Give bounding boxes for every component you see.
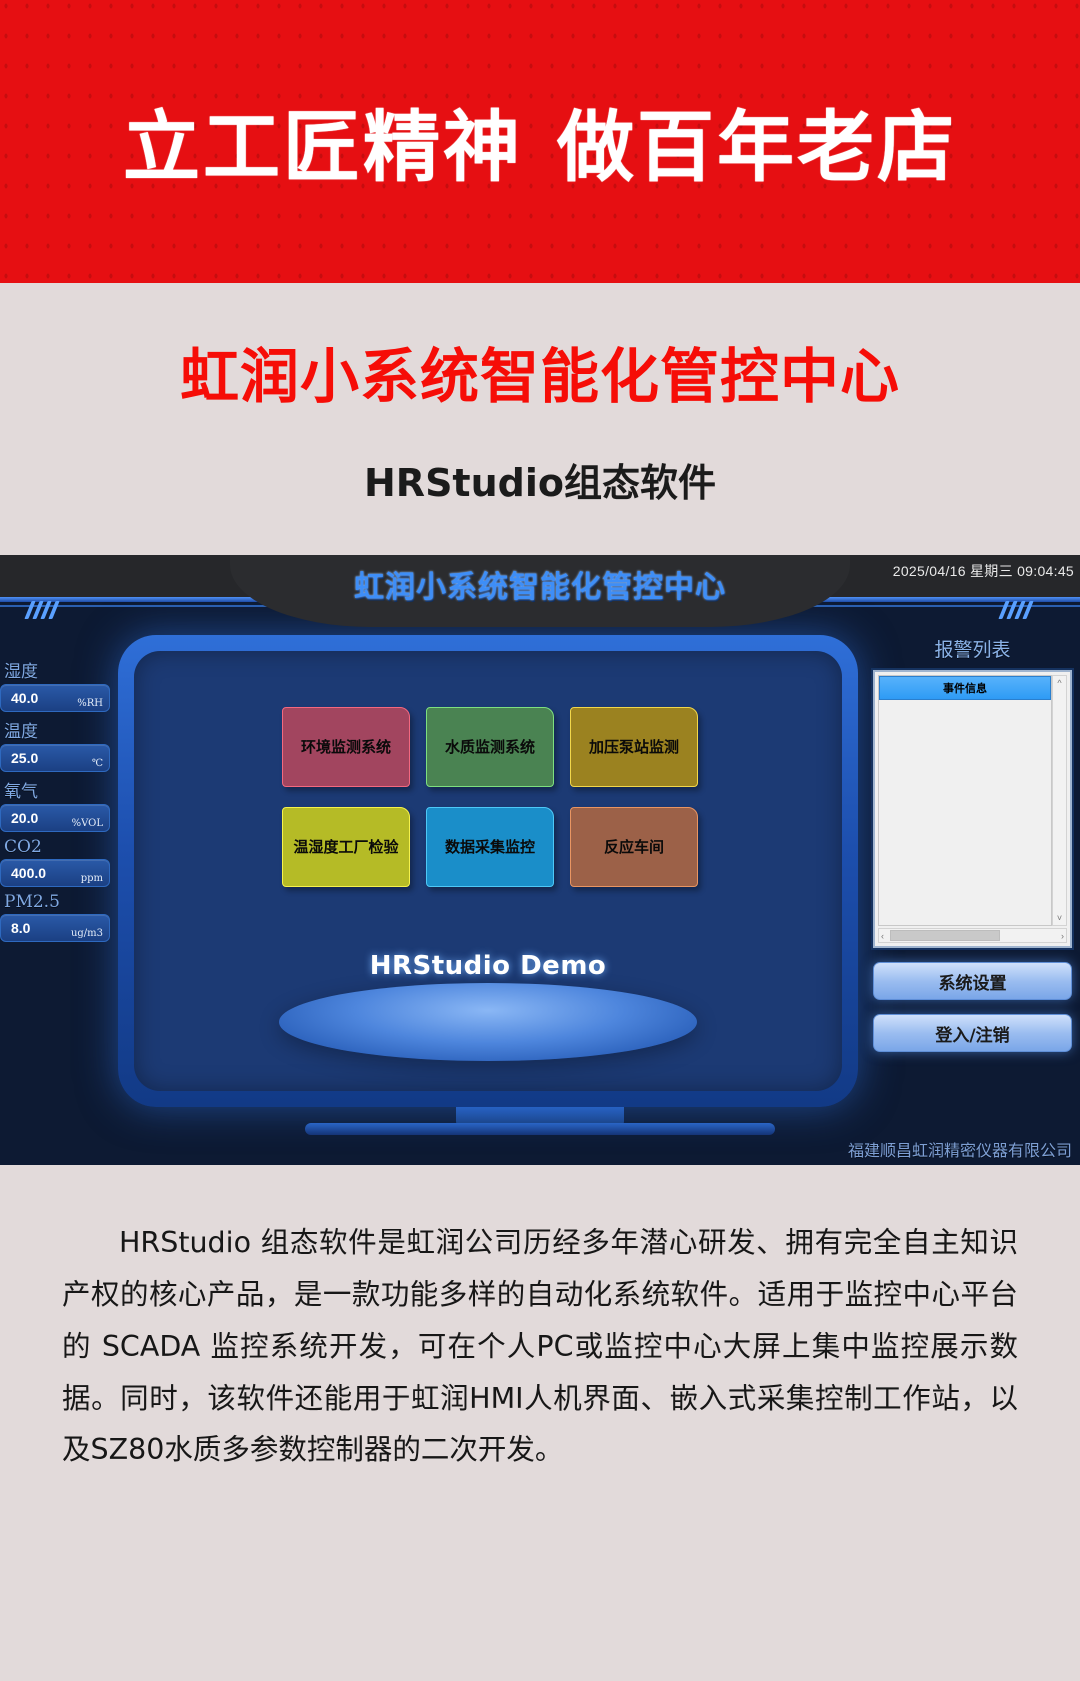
scroll-up-icon[interactable]: ^ [1057, 678, 1061, 688]
hero-banner: 立工匠精神做百年老店 [0, 0, 1080, 283]
alarm-list-top: 事件信息 ^ ˅ [878, 675, 1067, 926]
hmi-screen-title: 虹润小系统智能化管控中心 [354, 562, 726, 606]
sensor-label-co2: CO2 [0, 835, 116, 858]
module-button-environment[interactable]: 环境监测系统 [282, 707, 410, 787]
scroll-down-icon[interactable]: ˅ [1057, 913, 1062, 923]
module-button-water-quality[interactable]: 水质监测系统 [426, 707, 554, 787]
sensor-label-pm25: PM2.5 [0, 890, 116, 913]
sensor-field-humidity[interactable]: 40.0 %RH [0, 684, 110, 712]
system-settings-button[interactable]: 系统设置 [873, 962, 1072, 1000]
module-button-grid: 环境监测系统 水质监测系统 加压泵站监测 温湿度工厂检验 数据采集监控 反应车间 [282, 707, 698, 887]
alarm-list-container: 事件信息 ^ ˅ ‹ › [873, 670, 1072, 948]
sensor-unit-humidity: %RH [77, 698, 103, 709]
slash-decoration-right-icon [1002, 601, 1030, 619]
module-button-temp-humidity[interactable]: 温湿度工厂检验 [282, 807, 410, 887]
demo-title: HRStudio Demo [134, 951, 842, 981]
sensor-label-humidity: 湿度 [0, 655, 116, 683]
page-subtitle: HRStudio组态软件 [364, 452, 716, 507]
sensor-label-oxygen: 氧气 [0, 775, 116, 803]
sensor-value-oxygen: 20.0 [11, 810, 38, 826]
sensor-unit-co2: ppm [81, 873, 103, 884]
module-button-data-acquisition[interactable]: 数据采集监控 [426, 807, 554, 887]
alarm-list[interactable]: 事件信息 [878, 675, 1052, 926]
sensor-unit-oxygen: %VOL [72, 818, 103, 829]
sensor-field-co2[interactable]: 400.0 ppm [0, 859, 110, 887]
alarm-vertical-scrollbar[interactable]: ^ ˅ [1052, 675, 1067, 926]
monitor-screen: 环境监测系统 水质监测系统 加压泵站监测 温湿度工厂检验 数据采集监控 反应车间… [134, 651, 842, 1091]
monitor-frame: 环境监测系统 水质监测系统 加压泵站监测 温湿度工厂检验 数据采集监控 反应车间… [118, 635, 858, 1107]
hero-banner-inner: 立工匠精神做百年老店 [0, 0, 1080, 283]
sensor-value-pm25: 8.0 [11, 920, 30, 936]
alarm-panel: 报警列表 事件信息 ^ ˅ ‹ › 系统设置 登入/注销 [865, 635, 1080, 1052]
scroll-left-icon[interactable]: ‹ [881, 931, 884, 941]
hero-slogan: 立工匠精神做百年老店 [123, 86, 957, 197]
hmi-datetime: 2025/04/16 星期三 09:04:45 [893, 561, 1074, 581]
slash-decoration-left-icon [28, 601, 56, 619]
sensor-value-temperature: 25.0 [11, 750, 38, 766]
description-text: HRStudio 组态软件是虹润公司历经多年潜心研发、拥有完全自主知识产权的核心… [62, 1217, 1018, 1476]
hmi-company-footer: 福建顺昌虹润精密仪器有限公司 [848, 1137, 1072, 1161]
alarm-column-header: 事件信息 [879, 676, 1051, 700]
hero-slogan-right: 做百年老店 [557, 104, 957, 193]
demo-ellipse-decoration [279, 983, 697, 1061]
sensor-unit-pm25: ug/m3 [71, 928, 103, 939]
hero-slogan-left: 立工匠精神 [123, 104, 523, 193]
page-title: 虹润小系统智能化管控中心 [180, 329, 900, 414]
hmi-screenshot: 虹润小系统智能化管控中心 2025/04/16 星期三 09:04:45 湿度 … [0, 555, 1080, 1165]
sensor-field-pm25[interactable]: 8.0 ug/m3 [0, 914, 110, 942]
login-logout-button[interactable]: 登入/注销 [873, 1014, 1072, 1052]
sensor-value-humidity: 40.0 [11, 690, 38, 706]
sensor-value-co2: 400.0 [11, 865, 46, 881]
monitor-base [305, 1123, 775, 1135]
title-block: 虹润小系统智能化管控中心 HRStudio组态软件 [0, 283, 1080, 555]
hscroll-thumb[interactable] [890, 930, 1000, 941]
sensor-label-temperature: 温度 [0, 715, 116, 743]
rail-right-secondary [790, 605, 1080, 607]
sensor-unit-temperature: ℃ [92, 758, 103, 769]
module-button-pump-station[interactable]: 加压泵站监测 [570, 707, 698, 787]
alarm-list-body[interactable] [879, 700, 1051, 925]
module-button-reaction-workshop[interactable]: 反应车间 [570, 807, 698, 887]
sensor-field-temperature[interactable]: 25.0 ℃ [0, 744, 110, 772]
sensor-panel: 湿度 40.0 %RH 温度 25.0 ℃ 氧气 20.0 %VOL CO2 4… [0, 655, 116, 945]
description-section: HRStudio 组态软件是虹润公司历经多年潜心研发、拥有完全自主知识产权的核心… [0, 1165, 1080, 1681]
sensor-field-oxygen[interactable]: 20.0 %VOL [0, 804, 110, 832]
alarm-horizontal-scrollbar[interactable]: ‹ › [878, 928, 1067, 943]
scroll-right-icon[interactable]: › [1061, 931, 1064, 941]
alarm-panel-title: 报警列表 [865, 635, 1080, 662]
